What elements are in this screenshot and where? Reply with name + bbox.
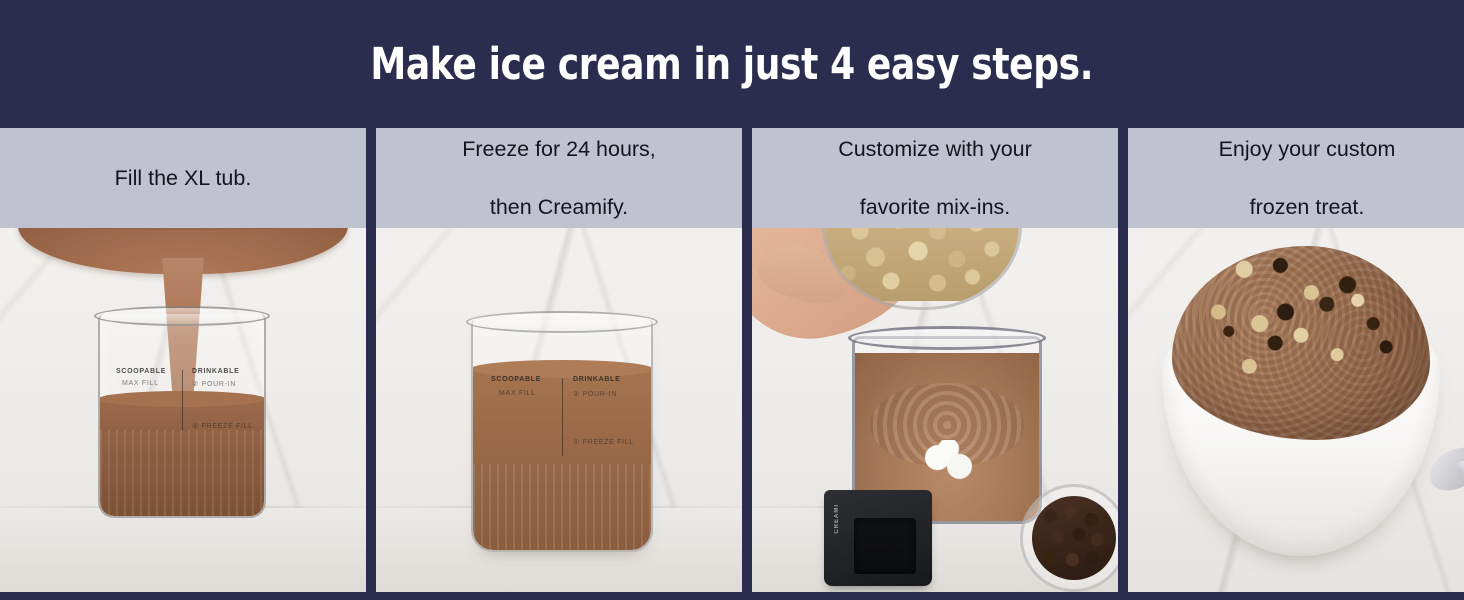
page-title: Make ice cream in just 4 easy steps. (371, 39, 1094, 90)
step-3-caption-text: Customize with your favorite mix-ins. (810, 135, 1060, 222)
step-panel-2: SCOOPABLE MAX FILL DRINKABLE ② POUR-IN ①… (376, 128, 742, 592)
tub-ridges (473, 464, 651, 550)
tub-label-divider (182, 370, 183, 430)
step-2-caption-text: Freeze for 24 hours, then Creamify. (434, 135, 684, 222)
frozen-tub: SCOOPABLE MAX FILL DRINKABLE ② POUR-IN ①… (471, 320, 653, 552)
step-2-caption-line2: then Creamify. (448, 193, 670, 222)
tub-ridges (100, 430, 264, 516)
step-3-caption-line1: Customize with your (824, 135, 1046, 164)
step-2-caption-line1: Freeze for 24 hours, (448, 135, 670, 164)
tub-label-freeze-fill: ① FREEZE FILL (573, 438, 634, 446)
step-4-caption: Enjoy your custom frozen treat. (1128, 128, 1464, 228)
tub-label-pour-in: ② POUR-IN (573, 390, 617, 398)
steps-row: SCOOPABLE MAX FILL DRINKABLE ② POUR-IN ①… (0, 128, 1464, 592)
tub-label-scoopable: SCOOPABLE (491, 376, 541, 383)
step-1-caption-text: Fill the XL tub. (101, 164, 266, 193)
tub-label-scoopable: SCOOPABLE (116, 368, 166, 375)
bottom-border (0, 592, 1464, 600)
pint-container-rim (848, 326, 1046, 350)
step-2-caption: Freeze for 24 hours, then Creamify. (376, 128, 742, 228)
step-4-caption-line2: frozen treat. (1205, 193, 1410, 222)
step-4-caption-text: Enjoy your custom frozen treat. (1191, 135, 1424, 222)
tub-label-drinkable: DRINKABLE (573, 376, 621, 383)
step-panel-3: CREAMI Customize with your favorite mix-… (752, 128, 1118, 592)
tub-label-freeze-fill: ① FREEZE FILL (192, 422, 253, 430)
frozen-tub-rim (466, 311, 658, 333)
tub-label-divider (562, 378, 563, 456)
creami-machine-base: CREAMI (824, 490, 932, 586)
xl-tub: SCOOPABLE MAX FILL DRINKABLE ② POUR-IN ①… (98, 314, 266, 518)
step-panel-4: Enjoy your custom frozen treat. (1128, 128, 1464, 592)
tub-label-pour-in: ② POUR-IN (192, 380, 236, 388)
step-4-caption-line1: Enjoy your custom (1205, 135, 1410, 164)
chocolate-chip-bowl (1020, 484, 1118, 592)
tub-label-drinkable: DRINKABLE (192, 368, 240, 375)
xl-tub-rim (94, 306, 270, 326)
tub-label-max-fill: MAX FILL (122, 380, 159, 387)
chocolate-chips (1032, 496, 1116, 580)
step-1-caption: Fill the XL tub. (0, 128, 366, 228)
step-3-caption: Customize with your favorite mix-ins. (752, 128, 1118, 228)
promo-banner: Make ice cream in just 4 easy steps. SCO… (0, 0, 1464, 600)
appliance-brand-label: CREAMI (834, 504, 840, 534)
tub-label-max-fill: MAX FILL (499, 390, 536, 397)
step-panel-1: SCOOPABLE MAX FILL DRINKABLE ② POUR-IN ①… (0, 128, 366, 592)
marshmallow-pieces (921, 440, 976, 484)
machine-slot (854, 518, 916, 574)
headline-bar: Make ice cream in just 4 easy steps. (0, 0, 1464, 128)
step-3-caption-line2: favorite mix-ins. (824, 193, 1046, 222)
counter-surface (0, 508, 366, 592)
